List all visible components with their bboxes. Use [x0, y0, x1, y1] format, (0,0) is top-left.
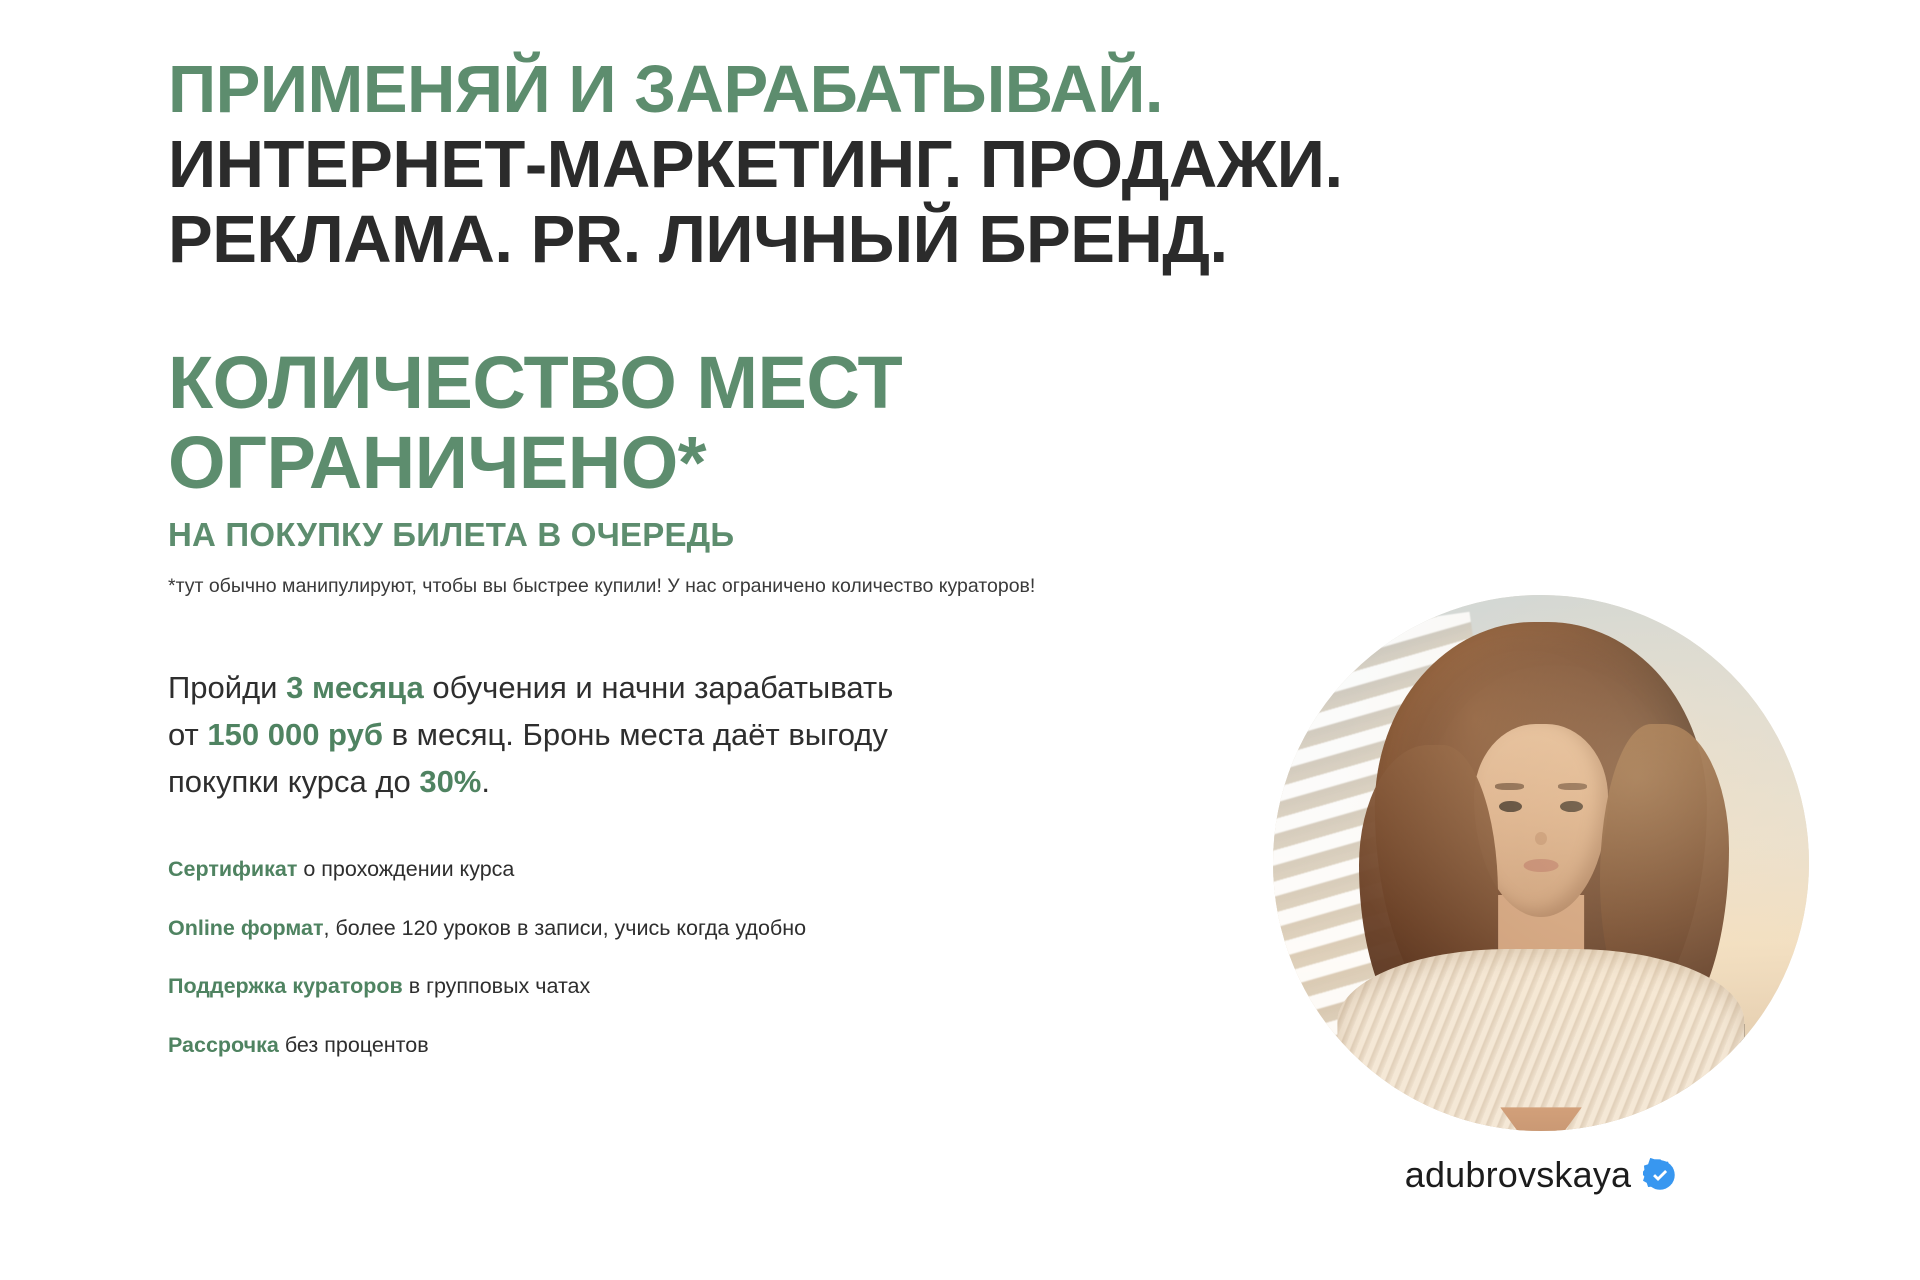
statement-line-1: КОЛИЧЕСТВО МЕСТ: [168, 343, 1328, 423]
page-title: ПРИМЕНЯЙ И ЗАРАБАТЫВАЙ. ИНТЕРНЕТ-МАРКЕТИ…: [168, 52, 1328, 277]
portrait-lips: [1524, 859, 1559, 873]
feature-term: Сертификат: [168, 857, 297, 881]
headline-line-1: ПРИМЕНЯЙ И ЗАРАБАТЫВАЙ.: [168, 52, 1328, 127]
list-item: Поддержка кураторов в групповых чатах: [168, 974, 1328, 1033]
feature-rest: в групповых чатах: [403, 974, 591, 998]
lead-text-4: .: [481, 764, 490, 799]
lead-text-1: Пройди: [168, 670, 286, 705]
verified-badge-icon: [1643, 1158, 1677, 1192]
feature-term: Online формат: [168, 916, 324, 940]
headline-line-3: РЕКЛАМА. PR. ЛИЧНЫЙ БРЕНД.: [168, 202, 1328, 277]
portrait-brow-right: [1558, 783, 1586, 790]
statement-subtitle: НА ПОКУПКУ БИЛЕТА В ОЧЕРЕДЬ: [168, 503, 1328, 553]
feature-term: Поддержка кураторов: [168, 974, 403, 998]
portrait-vneck: [1500, 1107, 1581, 1131]
portrait-nose: [1535, 832, 1547, 846]
statement-footnote: *тут обычно манипулируют, чтобы вы быстр…: [168, 553, 1328, 599]
features-list: Сертификат о прохождении курса Online фо…: [168, 805, 1328, 1059]
portrait-brow-left: [1495, 783, 1523, 790]
avatar: [1273, 595, 1809, 1131]
profile-handle: adubrovskaya: [1273, 1131, 1809, 1193]
list-item: Рассрочка без процентов: [168, 1033, 1328, 1059]
feature-rest: , более 120 уроков в записи, учись когда…: [324, 916, 807, 940]
portrait-lace-top: [1337, 949, 1744, 1131]
feature-rest: без процентов: [279, 1033, 429, 1057]
promo-page: ПРИМЕНЯЙ И ЗАРАБАТЫВАЙ. ИНТЕРНЕТ-МАРКЕТИ…: [0, 0, 1920, 1280]
statement-line-2: ОГРАНИЧЕНО*: [168, 423, 1328, 503]
lead-highlight-discount: 30%: [419, 764, 481, 799]
lead-highlight-duration: 3 месяца: [286, 670, 424, 705]
portrait-eye-left: [1499, 801, 1522, 813]
lead-highlight-income: 150 000 руб: [207, 717, 383, 752]
feature-rest: о прохождении курса: [297, 857, 514, 881]
profile-block: adubrovskaya: [1273, 595, 1809, 1193]
lead-paragraph: Пройди 3 месяца обучения и начни зарабат…: [168, 600, 928, 805]
feature-term: Рассрочка: [168, 1033, 279, 1057]
content-column: ПРИМЕНЯЙ И ЗАРАБАТЫВАЙ. ИНТЕРНЕТ-МАРКЕТИ…: [168, 52, 1328, 1059]
portrait-eye-right: [1560, 801, 1583, 813]
statement-heading: КОЛИЧЕСТВО МЕСТ ОГРАНИЧЕНО*: [168, 277, 1328, 503]
list-item: Сертификат о прохождении курса: [168, 857, 1328, 916]
profile-handle-label: adubrovskaya: [1405, 1157, 1632, 1193]
list-item: Online формат, более 120 уроков в записи…: [168, 916, 1328, 975]
headline-line-2: ИНТЕРНЕТ-МАРКЕТИНГ. ПРОДАЖИ.: [168, 127, 1328, 202]
